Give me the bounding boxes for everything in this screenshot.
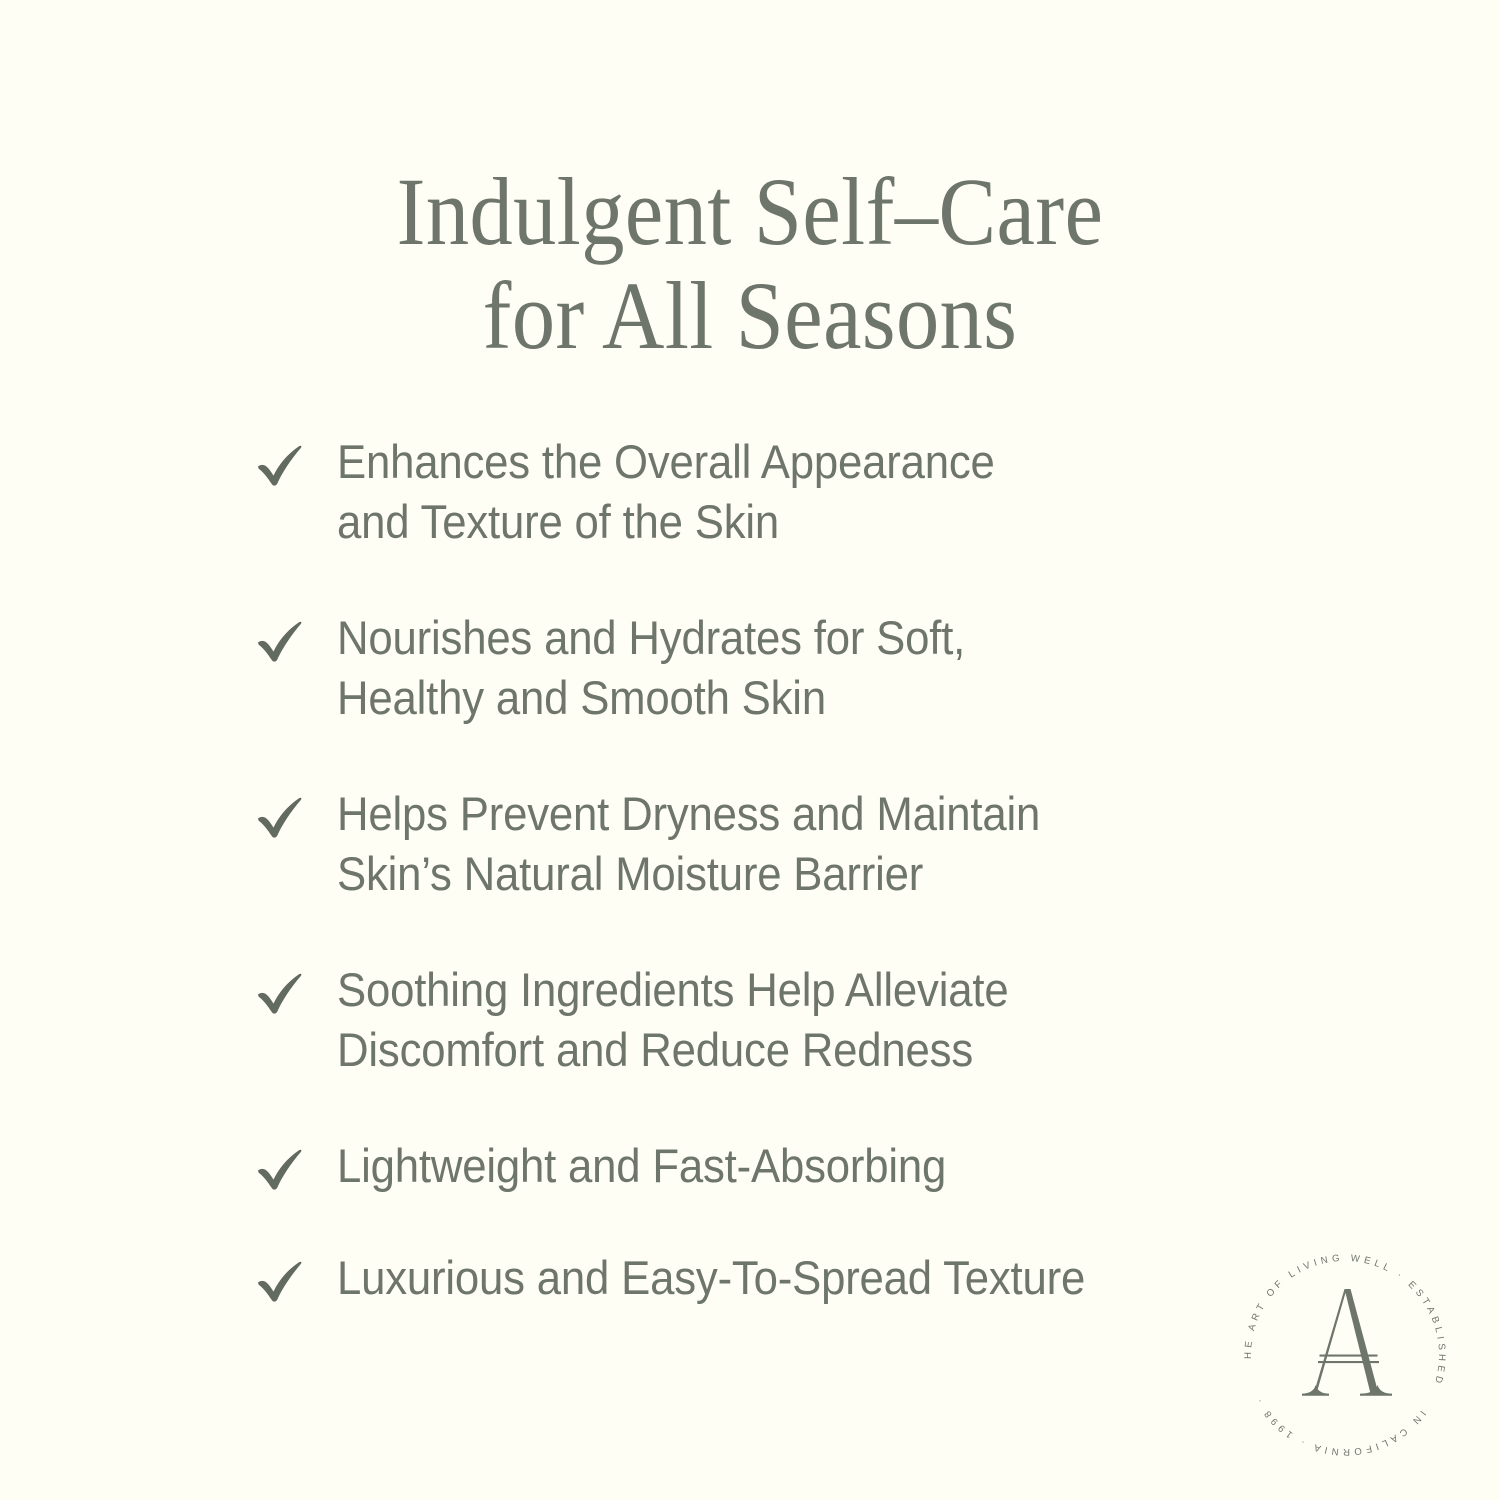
- logo-ring-text-top: THE ART OF LIVING WELL · ESTABLISHED: [1227, 1234, 1447, 1388]
- page-title-line-1: Indulgent Self–Care: [75, 160, 1425, 264]
- checkmark-icon: [252, 788, 310, 846]
- promo-graphic-canvas: Indulgent Self–Care for All Seasons Enha…: [0, 0, 1500, 1500]
- list-item-label: Helps Prevent Dryness and Maintain Skin’…: [337, 784, 1151, 904]
- logo-ring-top-label: THE ART OF LIVING WELL · ESTABLISHED: [1227, 1234, 1447, 1388]
- list-item: Soothing Ingredients Help Alleviate Disc…: [252, 960, 1212, 1080]
- checkmark-icon: [252, 1252, 310, 1310]
- list-item-label: Soothing Ingredients Help Alleviate Disc…: [337, 960, 1151, 1080]
- list-item-label: Enhances the Overall Appearance and Text…: [337, 432, 1151, 552]
- brand-logo-badge: THE ART OF LIVING WELL · ESTABLISHED IN …: [1232, 1242, 1458, 1468]
- list-item: Helps Prevent Dryness and Maintain Skin’…: [252, 784, 1212, 904]
- list-item-label: Lightweight and Fast-Absorbing: [337, 1136, 1151, 1196]
- page-title-line-2: for All Seasons: [75, 264, 1425, 368]
- logo-ring-bottom-label: IN CALIFORNIA · 1998 ·: [1253, 1393, 1428, 1457]
- list-item-label: Luxurious and Easy-To-Spread Texture: [337, 1248, 1151, 1308]
- list-item: Enhances the Overall Appearance and Text…: [252, 432, 1212, 552]
- checkmark-icon: [252, 436, 310, 494]
- benefits-list: Enhances the Overall Appearance and Text…: [252, 432, 1212, 1366]
- checkmark-icon: [252, 1140, 310, 1198]
- logo-monogram-a: [1302, 1289, 1392, 1396]
- logo-ring-text-bottom: IN CALIFORNIA · 1998 ·: [1253, 1393, 1428, 1457]
- list-item: Lightweight and Fast-Absorbing: [252, 1136, 1212, 1198]
- list-item: Luxurious and Easy-To-Spread Texture: [252, 1248, 1212, 1310]
- list-item: Nourishes and Hydrates for Soft, Healthy…: [252, 608, 1212, 728]
- checkmark-icon: [252, 612, 310, 670]
- checkmark-icon: [252, 964, 310, 1022]
- list-item-label: Nourishes and Hydrates for Soft, Healthy…: [337, 608, 1151, 728]
- page-title: Indulgent Self–Care for All Seasons: [75, 160, 1425, 368]
